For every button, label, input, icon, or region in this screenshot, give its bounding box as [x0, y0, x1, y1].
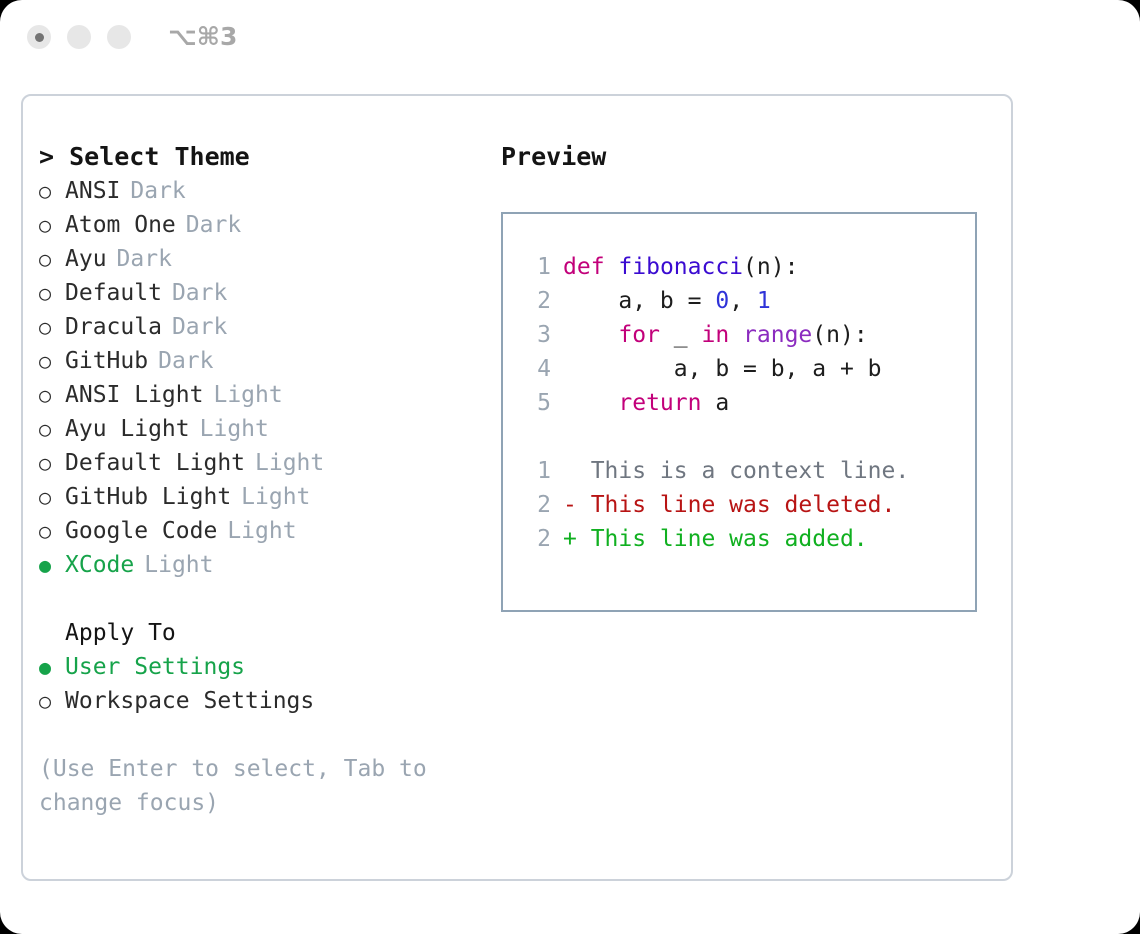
- list-item-variant-badge: Dark: [158, 344, 213, 378]
- line-number: 2: [521, 488, 551, 522]
- line-number: 2: [521, 284, 551, 318]
- list-item-variant-badge: Dark: [186, 208, 241, 242]
- code-sample: 1def fibonacci(n):2 a, b = 0, 13 for _ i…: [521, 250, 975, 420]
- radio-unselected-icon: ○: [39, 344, 65, 378]
- list-item[interactable]: ○DraculaDark: [39, 310, 489, 344]
- list-item[interactable]: ○GitHub LightLight: [39, 480, 489, 514]
- title-bar: ⌥⌘3: [0, 0, 1140, 80]
- code-gap: [521, 420, 975, 454]
- code-token-fn: fibonacci: [618, 250, 743, 284]
- diff-sample: 1 This is a context line.2- This line wa…: [521, 454, 975, 556]
- line-number: 4: [521, 352, 551, 386]
- record-dot-icon[interactable]: [27, 25, 51, 49]
- radio-selected-icon: ●: [39, 650, 65, 684]
- code-token-plain: [729, 318, 743, 352]
- list-item-label: ANSI Light: [65, 378, 203, 412]
- list-item[interactable]: ○GitHubDark: [39, 344, 489, 378]
- line-number: 3: [521, 318, 551, 352]
- list-item-variant-badge: Dark: [172, 276, 227, 310]
- list-item[interactable]: ○Workspace Settings: [39, 684, 489, 718]
- radio-unselected-icon: ○: [39, 480, 65, 514]
- code-token-plain: a: [701, 386, 729, 420]
- list-item[interactable]: ○Atom OneDark: [39, 208, 489, 242]
- list-item-label: Google Code: [65, 514, 217, 548]
- window-dot-2-icon[interactable]: [67, 25, 91, 49]
- code-line: 5 return a: [521, 386, 975, 420]
- list-item-variant-badge: Dark: [117, 242, 172, 276]
- list-item-label: Atom One: [65, 208, 176, 242]
- list-item[interactable]: ○DefaultDark: [39, 276, 489, 310]
- code-token-num: 1: [757, 284, 771, 318]
- code-token-plain: (n):: [743, 250, 798, 284]
- code-token-kw: def: [563, 250, 605, 284]
- radio-unselected-icon: ○: [39, 684, 65, 718]
- list-item-variant-badge: Light: [213, 378, 282, 412]
- code-token-plain: _: [660, 318, 702, 352]
- theme-picker-column: > Select Theme ○ANSIDark○Atom OneDark○Ay…: [39, 140, 489, 820]
- list-item[interactable]: ●XCodeLight: [39, 548, 489, 582]
- code-token-plain: [563, 318, 618, 352]
- list-item-label: Workspace Settings: [65, 684, 314, 718]
- code-token-plain: (n):: [812, 318, 867, 352]
- code-line: 4 a, b = b, a + b: [521, 352, 975, 386]
- list-item[interactable]: ○ANSIDark: [39, 174, 489, 208]
- code-line: 1def fibonacci(n):: [521, 250, 975, 284]
- list-item-label: User Settings: [65, 650, 245, 684]
- code-token-kw: for: [618, 318, 660, 352]
- preview-header: Preview: [501, 140, 1001, 174]
- code-line: 3 for _ in range(n):: [521, 318, 975, 352]
- window-dot-3-icon[interactable]: [107, 25, 131, 49]
- code-line: 2 a, b = 0, 1: [521, 284, 975, 318]
- theme-list: ○ANSIDark○Atom OneDark○AyuDark○DefaultDa…: [39, 174, 489, 582]
- list-item-variant-badge: Light: [200, 412, 269, 446]
- keyboard-shortcut-label: ⌥⌘3: [168, 22, 237, 51]
- list-item[interactable]: ○Ayu LightLight: [39, 412, 489, 446]
- list-item-variant-badge: Light: [255, 446, 324, 480]
- line-number: 1: [521, 454, 551, 488]
- radio-unselected-icon: ○: [39, 310, 65, 344]
- code-line: 2- This line was deleted.: [521, 488, 975, 522]
- preview-column: Preview 1def fibonacci(n):2 a, b = 0, 13…: [501, 140, 1001, 612]
- radio-unselected-icon: ○: [39, 242, 65, 276]
- code-token-plain: [605, 250, 619, 284]
- code-token-add: + This line was added.: [563, 522, 868, 556]
- radio-selected-icon: ●: [39, 548, 65, 582]
- list-item-variant-badge: Light: [241, 480, 310, 514]
- code-token-builtin: range: [743, 318, 812, 352]
- list-item-label: ANSI: [65, 174, 120, 208]
- main-panel: > Select Theme ○ANSIDark○Atom OneDark○Ay…: [21, 94, 1013, 881]
- line-number: 2: [521, 522, 551, 556]
- preview-box: 1def fibonacci(n):2 a, b = 0, 13 for _ i…: [501, 212, 977, 612]
- window-controls: [27, 25, 131, 49]
- app-window: ⌥⌘3 > Select Theme ○ANSIDark○Atom OneDar…: [0, 0, 1140, 934]
- list-item[interactable]: ●User Settings: [39, 650, 489, 684]
- list-item[interactable]: ○Google CodeLight: [39, 514, 489, 548]
- list-spacer: [39, 582, 489, 616]
- list-item-variant-badge: Light: [227, 514, 296, 548]
- list-item-label: Dracula: [65, 310, 162, 344]
- code-line: 2+ This line was added.: [521, 522, 975, 556]
- code-token-kw: return: [618, 386, 701, 420]
- radio-unselected-icon: ○: [39, 412, 65, 446]
- code-token-num: 0: [715, 284, 729, 318]
- apply-to-list: ●User Settings○Workspace Settings: [39, 650, 489, 718]
- list-item-label: Ayu Light: [65, 412, 190, 446]
- code-line: 1 This is a context line.: [521, 454, 975, 488]
- list-item[interactable]: ○Default LightLight: [39, 446, 489, 480]
- radio-unselected-icon: ○: [39, 446, 65, 480]
- radio-unselected-icon: ○: [39, 514, 65, 548]
- radio-unselected-icon: ○: [39, 208, 65, 242]
- line-number: 5: [521, 386, 551, 420]
- code-token-plain: [563, 386, 618, 420]
- code-token-plain: a, b =: [563, 284, 715, 318]
- radio-unselected-icon: ○: [39, 276, 65, 310]
- list-item-label: Default: [65, 276, 162, 310]
- record-dot-inner: [35, 33, 44, 42]
- keyboard-hint-text: (Use Enter to select, Tab to change focu…: [39, 752, 459, 820]
- list-item-variant-badge: Light: [144, 548, 213, 582]
- list-item[interactable]: ○AyuDark: [39, 242, 489, 276]
- radio-unselected-icon: ○: [39, 174, 65, 208]
- list-item-label: Default Light: [65, 446, 245, 480]
- code-token-ctx: This is a context line.: [563, 454, 909, 488]
- list-item-label: Ayu: [65, 242, 107, 276]
- list-item-variant-badge: Dark: [172, 310, 227, 344]
- list-item[interactable]: ○ANSI LightLight: [39, 378, 489, 412]
- code-token-plain: a, b = b, a + b: [563, 352, 882, 386]
- list-item-label: GitHub Light: [65, 480, 231, 514]
- code-token-plain: ,: [729, 284, 757, 318]
- select-theme-header: > Select Theme: [39, 140, 489, 174]
- list-item-label: XCode: [65, 548, 134, 582]
- list-item-variant-badge: Dark: [130, 174, 185, 208]
- code-token-del: - This line was deleted.: [563, 488, 895, 522]
- code-token-kw: in: [701, 318, 729, 352]
- apply-to-header: Apply To: [39, 616, 489, 650]
- radio-unselected-icon: ○: [39, 378, 65, 412]
- line-number: 1: [521, 250, 551, 284]
- list-item-label: GitHub: [65, 344, 148, 378]
